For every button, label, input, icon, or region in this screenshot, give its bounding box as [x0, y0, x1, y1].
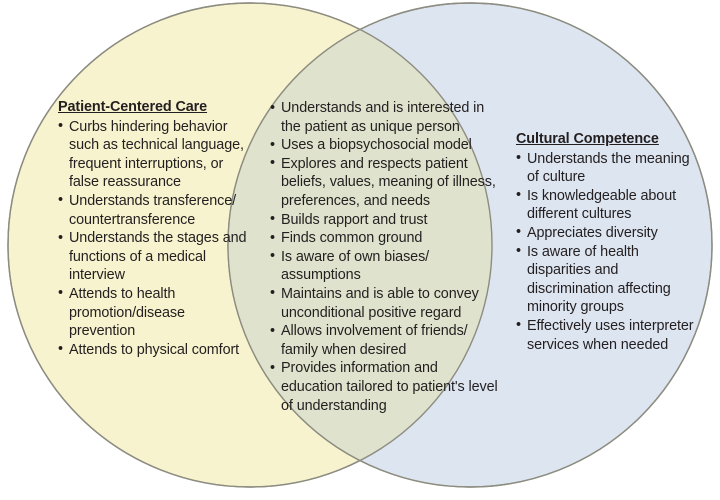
list-item-label: Understands the stages and functions of … — [69, 230, 246, 283]
bullet-icon: • — [516, 186, 521, 205]
bullet-icon: • — [270, 99, 275, 118]
venn-diagram: Patient-Centered Care •Curbs hindering b… — [0, 0, 720, 500]
list-item: •Uses a biopsychosocial model — [270, 136, 498, 155]
bullet-icon: • — [58, 117, 63, 136]
list-item: •Effectively uses interpreter services w… — [516, 317, 702, 354]
list-item: •Understands transference/ countertransf… — [58, 192, 248, 229]
list-item-label: Effectively uses interpreter services wh… — [527, 318, 694, 353]
list-item-label: Provides information and education tailo… — [281, 360, 498, 413]
list-item-label: Attends to physical comfort — [69, 342, 239, 358]
list-item-label: Understands transference/ countertransfe… — [69, 193, 236, 228]
bullet-icon: • — [516, 242, 521, 261]
list-item: •Attends to physical comfort — [58, 341, 248, 360]
list-item-label: Is aware of own biases/ assumptions — [281, 249, 429, 284]
bullet-icon: • — [58, 340, 63, 359]
left-set-list: •Curbs hindering behavior such as techni… — [58, 118, 248, 360]
venn-text-layer: Patient-Centered Care •Curbs hindering b… — [0, 0, 720, 500]
bullet-icon: • — [270, 210, 275, 229]
right-set-list: •Understands the meaning of culture •Is … — [516, 150, 702, 355]
bullet-icon: • — [516, 316, 521, 335]
bullet-icon: • — [270, 247, 275, 266]
list-item: •Allows involvement of friends/ family w… — [270, 322, 498, 359]
list-item: •Curbs hindering behavior such as techni… — [58, 118, 248, 192]
list-item-label: Is knowledgeable about different culture… — [527, 188, 676, 223]
list-item: •Is aware of own biases/ assumptions — [270, 248, 498, 285]
bullet-icon: • — [58, 284, 63, 303]
list-item: •Provides information and education tail… — [270, 359, 498, 415]
bullet-icon: • — [516, 223, 521, 242]
list-item-label: Curbs hindering behavior such as technic… — [69, 119, 244, 191]
left-set-text-block: Patient-Centered Care •Curbs hindering b… — [58, 98, 248, 359]
bullet-icon: • — [58, 229, 63, 248]
bullet-icon: • — [516, 149, 521, 168]
list-item: •Understands the meaning of culture — [516, 150, 702, 187]
list-item-label: Understands and is interested in the pat… — [281, 100, 484, 135]
list-item: •Appreciates diversity — [516, 224, 702, 243]
bullet-icon: • — [270, 154, 275, 173]
list-item: •Understands and is interested in the pa… — [270, 99, 498, 136]
list-item: •Is knowledgeable about different cultur… — [516, 187, 702, 224]
list-item-label: Maintains and is able to convey uncondit… — [281, 286, 479, 321]
list-item-label: Allows involvement of friends/ family wh… — [281, 323, 468, 358]
list-item: •Explores and respects patient beliefs, … — [270, 155, 498, 211]
list-item-label: Explores and respects patient beliefs, v… — [281, 156, 496, 209]
right-set-text-block: Cultural Competence •Understands the mea… — [516, 130, 702, 354]
right-set-title: Cultural Competence — [516, 130, 702, 149]
bullet-icon: • — [270, 284, 275, 303]
overlap-set-text-block: •Understands and is interested in the pa… — [270, 99, 498, 415]
list-item: •Maintains and is able to convey uncondi… — [270, 285, 498, 322]
bullet-icon: • — [270, 136, 275, 155]
list-item: •Is aware of health disparities and disc… — [516, 243, 702, 317]
bullet-icon: • — [270, 359, 275, 378]
list-item-label: Finds common ground — [281, 230, 422, 246]
bullet-icon: • — [270, 229, 275, 248]
bullet-icon: • — [58, 191, 63, 210]
list-item: •Understands the stages and functions of… — [58, 229, 248, 285]
list-item: •Builds rapport and trust — [270, 211, 498, 230]
list-item-label: Appreciates diversity — [527, 225, 658, 241]
list-item: •Attends to health promotion/disease pre… — [58, 285, 248, 341]
list-item-label: Understands the meaning of culture — [527, 151, 690, 186]
list-item-label: Attends to health promotion/disease prev… — [69, 286, 185, 339]
list-item-label: Uses a biopsychosocial model — [281, 137, 472, 153]
list-item-label: Builds rapport and trust — [281, 212, 427, 228]
left-set-title: Patient-Centered Care — [58, 98, 248, 117]
overlap-set-list: •Understands and is interested in the pa… — [270, 99, 498, 415]
bullet-icon: • — [270, 322, 275, 341]
list-item: •Finds common ground — [270, 229, 498, 248]
list-item-label: Is aware of health disparities and discr… — [527, 244, 671, 316]
